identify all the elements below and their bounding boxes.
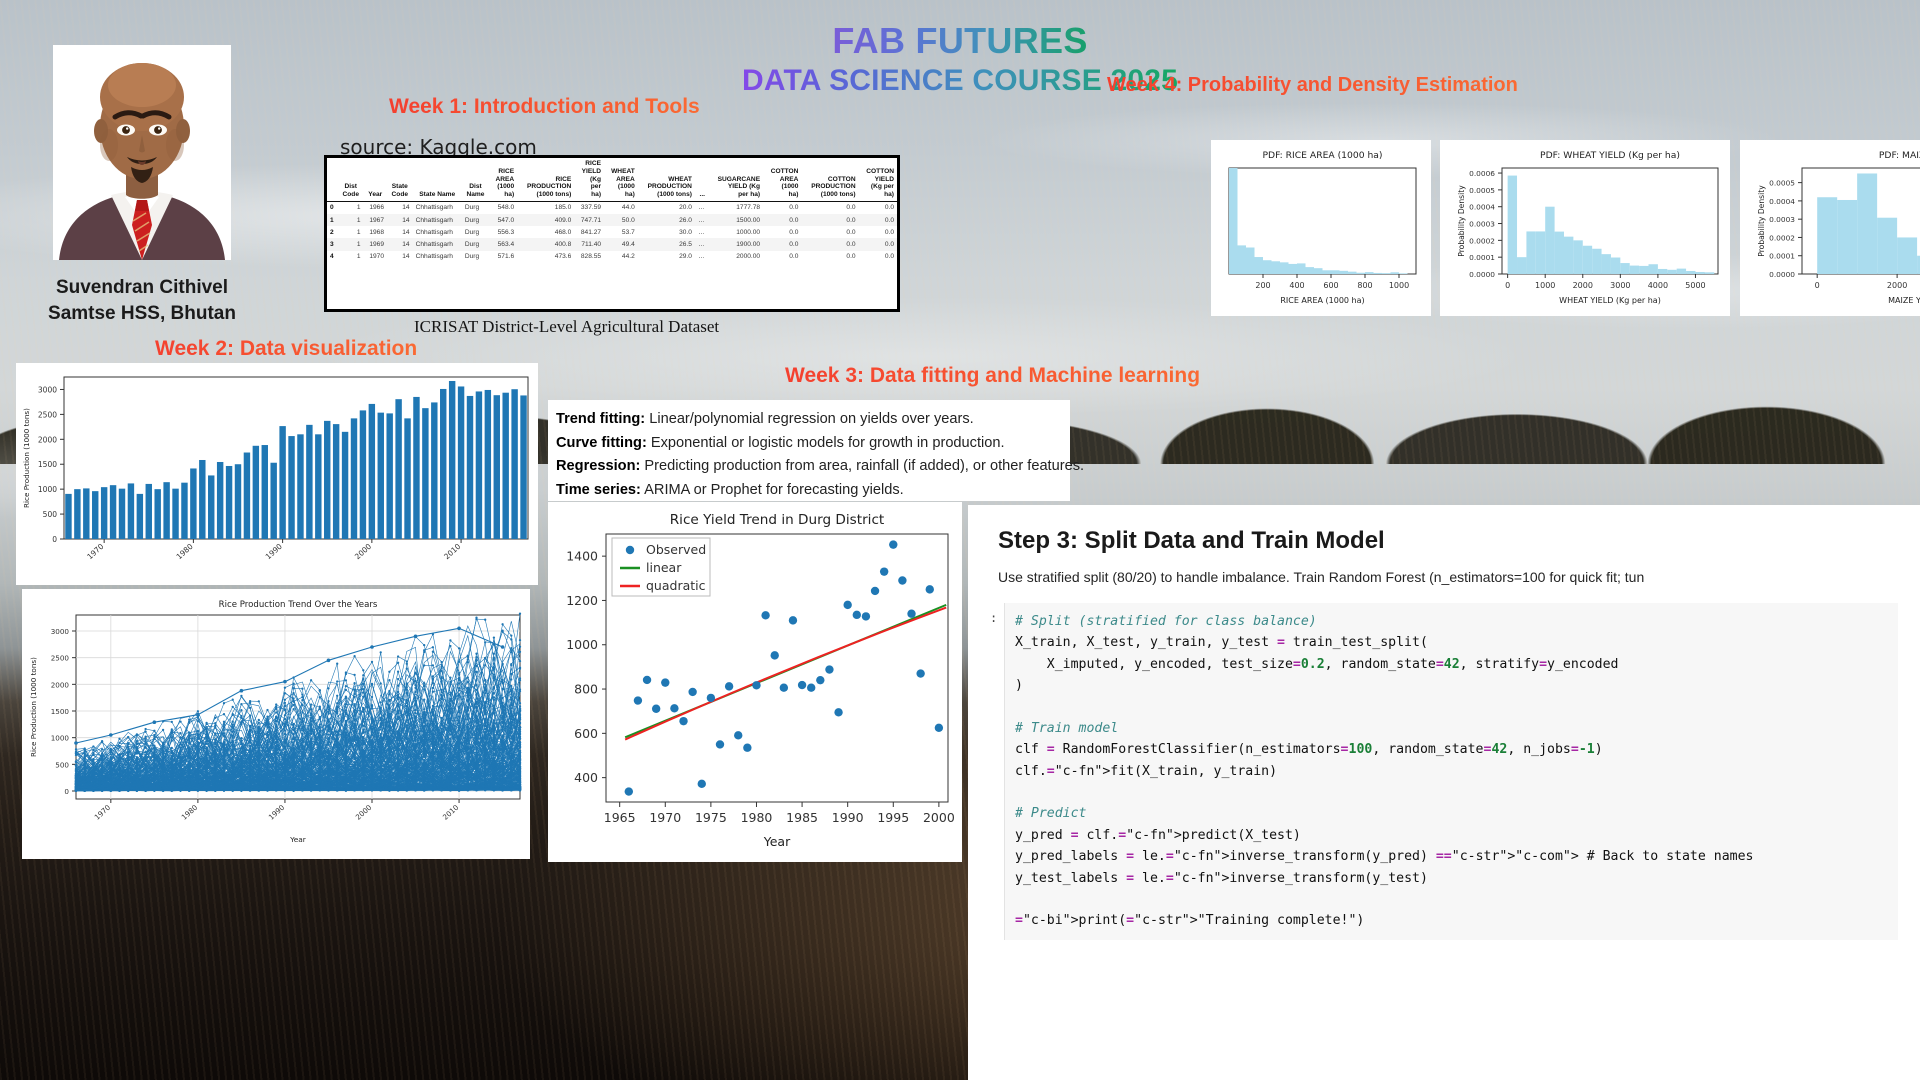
table-cell: 0.0	[801, 214, 858, 226]
svg-text:MAIZE YIELD: MAIZE YIELD	[1888, 296, 1920, 305]
scatter-point	[926, 585, 934, 593]
bar	[297, 434, 303, 539]
bar	[146, 484, 152, 539]
svg-text:0.0000: 0.0000	[1469, 270, 1495, 279]
scatter-point	[935, 724, 943, 732]
table-cell: 1968	[364, 226, 387, 238]
bar	[110, 485, 116, 539]
table-column-header: ...	[695, 158, 708, 201]
histogram-bar	[1573, 240, 1582, 274]
bar	[494, 395, 500, 539]
week3-bullet: Regression: Predicting production from a…	[556, 455, 1062, 479]
histogram-bar	[1306, 267, 1315, 274]
table-cell: 547.0	[489, 214, 517, 226]
table-cell: ...	[695, 201, 708, 214]
bar	[306, 425, 312, 539]
table-cell: 563.4	[489, 238, 517, 250]
svg-text:200: 200	[1255, 281, 1270, 290]
rice-production-line-chart: Rice Production Trend Over the Years0500…	[22, 589, 530, 859]
table-cell: 841.27	[574, 226, 604, 238]
bar	[413, 397, 419, 539]
table-cell: 468.0	[517, 226, 574, 238]
svg-text:0.0000: 0.0000	[1769, 270, 1795, 279]
table-header-row: DistCodeYearStateCodeState NameDistNameR…	[327, 158, 897, 201]
histogram-bar	[1263, 260, 1272, 274]
table-column-header: COTTONYIELD(Kg perha)	[859, 158, 897, 201]
histogram-bar	[1857, 173, 1877, 274]
table-cell: Durg	[462, 238, 489, 250]
svg-text:Rice Production (1000 tons): Rice Production (1000 tons)	[22, 408, 31, 508]
bar	[65, 494, 71, 539]
scatter-point	[752, 681, 760, 689]
scatter-point	[834, 708, 842, 716]
scatter-point	[698, 780, 706, 788]
scatter-point	[853, 611, 861, 619]
scatter-point	[880, 567, 888, 575]
table-cell: ...	[695, 226, 708, 238]
histogram-bar	[1877, 218, 1897, 274]
table-column-header: State Name	[413, 158, 462, 201]
table-cell: 0.0	[859, 201, 897, 214]
table-cell: Chhattisgarh	[413, 238, 462, 250]
bar	[333, 424, 339, 539]
table-cell: 548.0	[489, 201, 517, 214]
presenter-name-line2: Samtse HSS, Bhutan	[0, 301, 284, 327]
table-cell: 1500.00	[708, 214, 763, 226]
scatter-point	[661, 678, 669, 686]
table-cell: 0.0	[763, 251, 801, 263]
table-cell: 0.0	[801, 238, 858, 250]
week-3-heading: Week 3: Data fitting and Machine learnin…	[785, 364, 1200, 388]
histogram-bar	[1255, 257, 1264, 274]
bar	[253, 446, 259, 539]
svg-text:600: 600	[1323, 281, 1338, 290]
week3-bullet: Curve fitting: Exponential or logistic m…	[556, 432, 1062, 456]
svg-text:Rice Production Trend Over the: Rice Production Trend Over the Years	[219, 600, 378, 610]
bar	[485, 390, 491, 539]
svg-text:4000: 4000	[1648, 281, 1668, 290]
bar	[458, 386, 464, 539]
scatter-point	[771, 651, 779, 659]
scatter-point	[871, 587, 879, 595]
scatter-point	[725, 682, 733, 690]
svg-text:500: 500	[55, 760, 69, 769]
histogram-bar	[1280, 262, 1289, 274]
table-cell: 0.0	[801, 226, 858, 238]
table-column-header: COTTONPRODUCTION(1000 tons)	[801, 158, 858, 201]
bar	[119, 489, 125, 539]
histogram-bar	[1564, 237, 1573, 274]
scatter-point	[652, 705, 660, 713]
histogram-bar	[1517, 257, 1526, 274]
pdf-rice-area-svg: PDF: RICE AREA (1000 ha)2004006008001000…	[1211, 140, 1431, 316]
svg-text:PDF: RICE AREA (1000 ha): PDF: RICE AREA (1000 ha)	[1262, 150, 1382, 161]
table-cell: Chhattisgarh	[413, 251, 462, 263]
svg-text:0: 0	[52, 535, 57, 544]
table-cell: 0.0	[801, 201, 858, 214]
table-cell: 30.0	[638, 226, 695, 238]
histogram-bar	[1382, 273, 1391, 274]
scatter-point	[825, 665, 833, 673]
svg-text:3000: 3000	[1610, 281, 1630, 290]
histogram-bar	[1592, 249, 1601, 274]
svg-text:2500: 2500	[51, 654, 70, 663]
scatter-point	[670, 704, 678, 712]
svg-text:3000: 3000	[51, 627, 70, 636]
table-column-header: DistCode	[338, 158, 364, 201]
bar	[395, 399, 401, 539]
bar	[467, 396, 473, 539]
histogram-bar	[1555, 232, 1564, 274]
rice-yield-scatter-svg: Rice Yield Trend in Durg District4006008…	[548, 502, 962, 862]
svg-text:3000: 3000	[38, 385, 57, 394]
table-cell: 828.55	[574, 251, 604, 263]
scatter-point	[625, 787, 633, 795]
table-column-header: StateCode	[387, 158, 413, 201]
notebook-lead-text: Use stratified split (80/20) to handle i…	[968, 555, 1920, 585]
table-cell: 20.0	[638, 201, 695, 214]
notebook-heading: Step 3: Split Data and Train Model	[968, 505, 1920, 555]
bar	[128, 483, 134, 539]
table-cell: 14	[387, 226, 413, 238]
table-cell: ...	[695, 214, 708, 226]
bar	[342, 432, 348, 539]
histogram-bar	[1583, 246, 1592, 274]
svg-text:0.0004: 0.0004	[1469, 203, 1495, 212]
table-column-header	[327, 158, 338, 201]
svg-text:Probability Density: Probability Density	[1757, 185, 1766, 257]
bar	[199, 460, 205, 539]
notebook-code-cell[interactable]: : # Split (stratified for class balance)…	[990, 603, 1898, 940]
table-cell: Durg	[462, 251, 489, 263]
histogram-bar	[1331, 270, 1340, 274]
svg-text:500: 500	[43, 510, 58, 519]
histogram-bar	[1340, 271, 1349, 274]
table-cell: 0.0	[859, 226, 897, 238]
svg-text:0: 0	[1815, 281, 1820, 290]
table-cell: 0.0	[859, 238, 897, 250]
svg-text:5000: 5000	[1685, 281, 1705, 290]
table-cell: 185.0	[517, 201, 574, 214]
portrait-illustration	[53, 45, 231, 260]
table-cell: 1000.00	[708, 226, 763, 238]
svg-text:400: 400	[1289, 281, 1304, 290]
dataset-caption: ICRISAT District-Level Agricultural Data…	[414, 317, 719, 337]
bar	[520, 395, 526, 539]
table-cell: 1969	[364, 238, 387, 250]
bar	[449, 381, 455, 539]
table-cell: 1	[338, 201, 364, 214]
histogram-bar	[1272, 261, 1281, 274]
table-cell: 44.2	[604, 251, 638, 263]
presenter-photo	[53, 45, 231, 260]
svg-text:RICE AREA (1000 ha): RICE AREA (1000 ha)	[1280, 296, 1364, 305]
rice-production-bar-chart: 0500100015002000250030001970198019902000…	[16, 363, 538, 585]
table-row: 41197014ChhattisgarhDurg571.6473.6828.55…	[327, 251, 897, 263]
table-column-header: DistName	[462, 158, 489, 201]
bar	[502, 393, 508, 539]
code-block[interactable]: # Split (stratified for class balance) X…	[1004, 603, 1898, 940]
table-cell: 571.6	[489, 251, 517, 263]
table-body: 01196614ChhattisgarhDurg548.0185.0337.59…	[327, 201, 897, 262]
svg-text:0.0004: 0.0004	[1769, 197, 1795, 206]
histogram-bar	[1348, 272, 1357, 274]
bar	[324, 421, 330, 539]
histogram-bar	[1545, 207, 1554, 274]
row-index: 1	[327, 214, 338, 226]
histogram-bar	[1658, 269, 1667, 274]
table-cell: Durg	[462, 226, 489, 238]
bar	[154, 489, 160, 539]
bar	[369, 404, 375, 539]
bar	[163, 482, 169, 539]
table-cell: 29.0	[638, 251, 695, 263]
table-cell: 26.0	[638, 214, 695, 226]
svg-text:800: 800	[1357, 281, 1372, 290]
table-cell: 1	[338, 226, 364, 238]
table-cell: 1777.78	[708, 201, 763, 214]
histogram-bar	[1323, 270, 1332, 274]
scatter-point	[862, 612, 870, 620]
histogram-bar	[1229, 168, 1238, 274]
week3-bullet-list: Trend fitting: Linear/polynomial regress…	[548, 400, 1070, 503]
scatter-point	[688, 688, 696, 696]
histogram-bar	[1639, 266, 1648, 274]
scatter-point	[789, 616, 797, 624]
table-cell: 49.4	[604, 238, 638, 250]
table-column-header: WHEATAREA(1000ha)	[604, 158, 638, 201]
cell-prompt: :	[990, 603, 1004, 940]
chart-legend: Observedlinearquadratic	[612, 538, 710, 596]
table-cell: ...	[695, 251, 708, 263]
row-index: 4	[327, 251, 338, 263]
bar	[360, 410, 366, 539]
histogram-bar	[1238, 245, 1247, 274]
svg-text:1000: 1000	[1535, 281, 1555, 290]
table-column-header: Year	[364, 158, 387, 201]
svg-text:0.0002: 0.0002	[1769, 233, 1795, 242]
row-index: 3	[327, 238, 338, 250]
presenter-name: Suvendran Cithivel Samtse HSS, Bhutan	[0, 275, 284, 326]
svg-text:0.0003: 0.0003	[1769, 215, 1795, 224]
histogram-bar	[1374, 273, 1383, 274]
page-subtitle: DATA SCIENCE COURSE 2025	[0, 64, 1920, 98]
histogram-bar	[1817, 197, 1837, 274]
week3-bullet: Time series: ARIMA or Prophet for foreca…	[556, 479, 1062, 503]
histogram-bar	[1620, 263, 1629, 274]
table-cell: 1	[338, 251, 364, 263]
histogram-bar	[1297, 263, 1306, 274]
rice-production-bar-svg: 0500100015002000250030001970198019902000…	[16, 363, 538, 585]
table-cell: ...	[695, 238, 708, 250]
row-index: 2	[327, 226, 338, 238]
svg-text:1500: 1500	[38, 460, 57, 469]
scatter-point	[743, 744, 751, 752]
table-cell: 26.5	[638, 238, 695, 250]
svg-text:2000: 2000	[1887, 281, 1907, 290]
svg-text:0.0003: 0.0003	[1469, 220, 1495, 229]
scatter-point	[780, 684, 788, 692]
histogram-bar	[1357, 273, 1366, 274]
svg-text:2000: 2000	[38, 435, 57, 444]
bar	[378, 413, 384, 539]
histogram-bar	[1399, 273, 1408, 274]
rice-production-line-svg: Rice Production Trend Over the Years0500…	[22, 589, 530, 859]
scatter-point	[734, 731, 742, 739]
table-cell: 44.0	[604, 201, 638, 214]
histogram-bar	[1508, 176, 1517, 274]
histogram-bar	[1314, 268, 1323, 274]
table-cell: 400.8	[517, 238, 574, 250]
table-cell: 747.71	[574, 214, 604, 226]
bar	[511, 389, 517, 539]
table-row: 01196614ChhattisgarhDurg548.0185.0337.59…	[327, 201, 897, 214]
histogram-bar	[1686, 271, 1695, 274]
table-column-header: RICEAREA(1000ha)	[489, 158, 517, 201]
table-column-header: WHEATPRODUCTION(1000 tons)	[638, 158, 695, 201]
bar	[351, 418, 357, 539]
table-cell: 1966	[364, 201, 387, 214]
bar	[315, 434, 321, 539]
svg-text:0.0006: 0.0006	[1469, 169, 1495, 178]
table-cell: 409.0	[517, 214, 574, 226]
svg-text:0.0002: 0.0002	[1469, 236, 1495, 245]
bar	[101, 487, 107, 539]
bar	[235, 464, 241, 539]
table-cell: 1970	[364, 251, 387, 263]
svg-text:0.0005: 0.0005	[1769, 179, 1795, 188]
svg-text:1500: 1500	[51, 707, 70, 716]
svg-text:PDF: WHEAT YIELD (Kg per ha): PDF: WHEAT YIELD (Kg per ha)	[1540, 150, 1680, 161]
svg-text:1000: 1000	[1389, 281, 1409, 290]
table-column-header: SUGARCANEYIELD (Kgper ha)	[708, 158, 763, 201]
scatter-point	[716, 740, 724, 748]
pdf-wheat-yield-chart: PDF: WHEAT YIELD (Kg per ha)0.00000.0001…	[1440, 140, 1730, 316]
histogram-bar	[1705, 272, 1714, 274]
presenter-name-line1: Suvendran Cithivel	[0, 275, 284, 301]
bar	[190, 468, 196, 539]
scatter-point	[707, 694, 715, 702]
table-cell: Durg	[462, 201, 489, 214]
bar	[404, 418, 410, 539]
scatter-point	[907, 610, 915, 618]
week3-description-panel: Trend fitting: Linear/polynomial regress…	[548, 400, 1070, 501]
histogram-bar	[1649, 264, 1658, 274]
table-row: 31196914ChhattisgarhDurg563.4400.8711.40…	[327, 238, 897, 250]
svg-text:2000: 2000	[1573, 281, 1593, 290]
bar	[217, 462, 223, 539]
scatter-point	[761, 611, 769, 619]
bar	[440, 389, 446, 539]
bar	[226, 466, 232, 539]
scatter-point	[807, 684, 815, 692]
table-cell: 1	[338, 238, 364, 250]
table-cell: 53.7	[604, 226, 638, 238]
histogram-bar	[1837, 200, 1857, 274]
pdf-maize-yield-chart: PDF: MAIZE YIE0.00000.00010.00020.00030.…	[1740, 140, 1920, 316]
histogram-bar	[1289, 264, 1298, 274]
bar	[208, 475, 214, 539]
bar	[431, 402, 437, 539]
table-cell: Chhattisgarh	[413, 214, 462, 226]
table-cell: Chhattisgarh	[413, 226, 462, 238]
histogram-bar	[1630, 266, 1639, 274]
table-cell: 1900.00	[708, 238, 763, 250]
bar	[137, 494, 143, 539]
bar	[244, 453, 250, 539]
svg-text:0.0001: 0.0001	[1469, 253, 1495, 262]
pdf-rice-area-chart: PDF: RICE AREA (1000 ha)2004006008001000…	[1211, 140, 1431, 316]
bar	[270, 463, 276, 539]
pdf-maize-yield-svg: PDF: MAIZE YIE0.00000.00010.00020.00030.…	[1740, 140, 1920, 316]
bar	[262, 445, 268, 539]
week-4-heading: Week 4: Probability and Density Estimati…	[1107, 74, 1518, 97]
histogram-bar	[1536, 231, 1545, 274]
table-cell: 473.6	[517, 251, 574, 263]
table-cell: Chhattisgarh	[413, 201, 462, 214]
scatter-point	[643, 676, 651, 684]
histogram-bar	[1602, 254, 1611, 274]
page-title-part-2: FUTURES	[916, 20, 1088, 61]
bar	[422, 408, 428, 539]
bar	[92, 491, 98, 539]
bar	[279, 426, 285, 539]
dataframe-table: DistCodeYearStateCodeState NameDistNameR…	[324, 155, 900, 312]
table-column-header: RICEPRODUCTION(1000 tons)	[517, 158, 574, 201]
table-cell: 14	[387, 238, 413, 250]
scatter-point	[798, 681, 806, 689]
table-cell: 337.59	[574, 201, 604, 214]
week-1-heading: Week 1: Introduction and Tools	[389, 95, 700, 119]
table-cell: 0.0	[763, 226, 801, 238]
table-cell: 0.0	[763, 201, 801, 214]
bar	[181, 483, 187, 539]
bar	[83, 488, 89, 539]
page-title-part-1: FAB	[832, 20, 915, 61]
scatter-point	[889, 540, 897, 548]
table-cell: 0.0	[859, 214, 897, 226]
table-cell: 14	[387, 251, 413, 263]
bar	[288, 436, 294, 539]
histogram-bar	[1677, 269, 1686, 274]
histogram-bar	[1246, 248, 1255, 275]
notebook-card: Step 3: Split Data and Train Model Use s…	[968, 505, 1920, 1080]
table-cell: 2000.00	[708, 251, 763, 263]
svg-text:1000: 1000	[38, 485, 57, 494]
scatter-point	[816, 676, 824, 684]
table-column-header: COTTONAREA(1000ha)	[763, 158, 801, 201]
svg-text:1000: 1000	[51, 734, 70, 743]
svg-text:0.0001: 0.0001	[1769, 252, 1795, 261]
week-2-heading: Week 2: Data visualization	[155, 337, 417, 361]
table-cell: 14	[387, 214, 413, 226]
page-title: FAB FUTURES	[0, 20, 1920, 62]
bar	[74, 489, 80, 539]
histogram-bar	[1526, 231, 1535, 274]
histogram-bar	[1897, 237, 1917, 274]
table-cell: 0.0	[763, 238, 801, 250]
scatter-point	[634, 696, 642, 704]
svg-text:PDF: MAIZE YIE: PDF: MAIZE YIE	[1879, 150, 1920, 161]
svg-text:0: 0	[64, 787, 69, 796]
svg-text:0: 0	[1505, 281, 1510, 290]
histogram-bar	[1667, 270, 1676, 274]
scatter-point	[898, 576, 906, 584]
table-cell: 14	[387, 201, 413, 214]
svg-text:2500: 2500	[38, 410, 57, 419]
histogram-bar	[1391, 272, 1400, 274]
table-cell: Durg	[462, 214, 489, 226]
